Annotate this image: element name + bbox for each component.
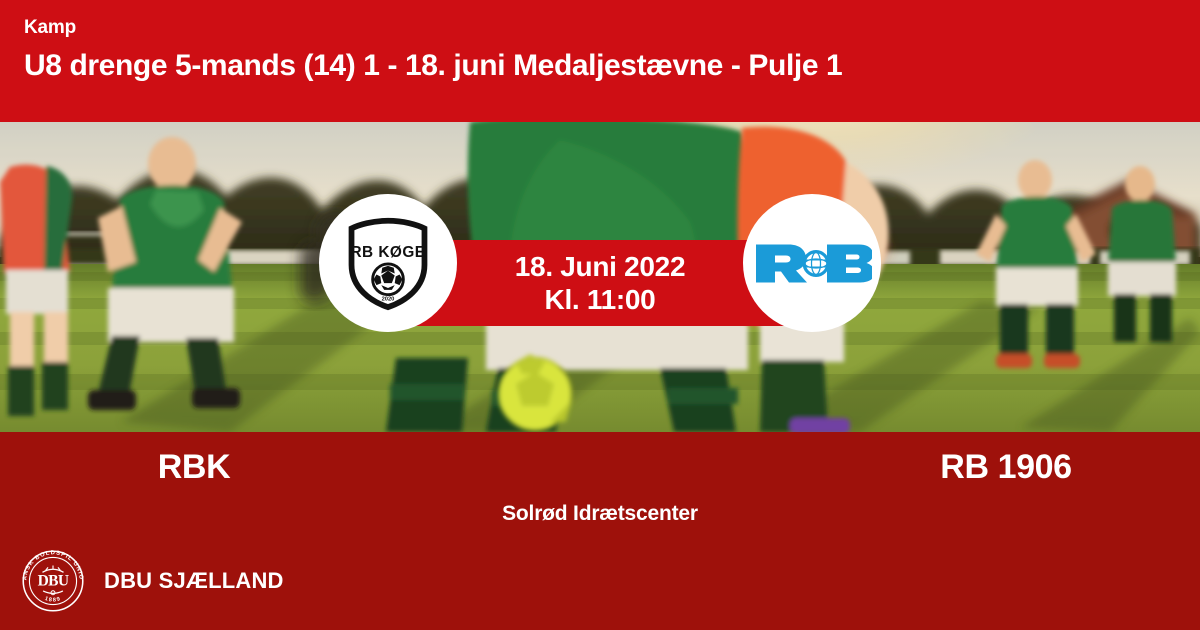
kamp-kicker-label: Kamp [24, 18, 1176, 39]
home-team-logo: RB KØGE 2020 [319, 194, 457, 332]
match-date: 18. Juni 2022 [515, 250, 685, 283]
organisation-name: DBU SJÆLLAND [104, 568, 284, 594]
svg-text:1889: 1889 [44, 596, 62, 604]
page-title: U8 drenge 5-mands (14) 1 - 18. juni Meda… [24, 49, 1176, 84]
home-team-name: RBK [0, 440, 600, 494]
team-names-row: RBK RB 1906 [0, 440, 1200, 494]
match-poster: Kamp U8 drenge 5-mands (14) 1 - 18. juni… [0, 0, 1200, 630]
poster-footer: DANSK BOLDSPIL UNION 1889 DBU DBU SJÆLLA… [22, 548, 284, 614]
svg-text:2020: 2020 [382, 296, 395, 302]
dbu-crest-icon: DANSK BOLDSPIL UNION 1889 DBU [22, 550, 84, 612]
svg-text:DBU: DBU [38, 572, 69, 589]
away-team-logo [743, 194, 881, 332]
poster-header: Kamp U8 drenge 5-mands (14) 1 - 18. juni… [0, 0, 1200, 122]
rb-1906-wordmark-logo-icon [752, 235, 872, 291]
svg-text:RB KØGE: RB KØGE [350, 244, 425, 261]
match-venue: Solrød Idrætscenter [0, 502, 1200, 526]
match-time: Kl. 11:00 [545, 283, 656, 316]
rb-koge-shield-logo-icon: RB KØGE 2020 [340, 215, 436, 311]
away-team-name: RB 1906 [600, 440, 1200, 494]
